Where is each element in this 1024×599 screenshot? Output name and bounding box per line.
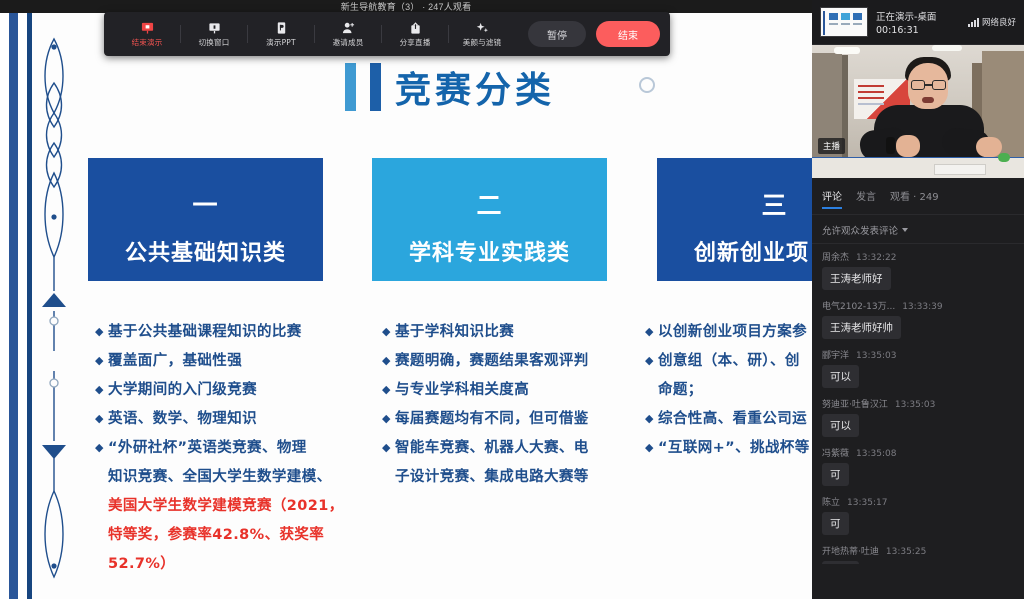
toolbar-label-3: 邀请成员 xyxy=(333,37,364,48)
comment-timestamp: 13:35:03 xyxy=(895,400,935,410)
toolbar-item-invite-member[interactable]: 邀请成员 xyxy=(315,14,381,54)
bullet-text: 知识竞赛、全国大学生数学建模、 xyxy=(108,466,332,488)
bullet-diamond-icon: ◆ xyxy=(95,437,108,459)
category-number-2: 二 xyxy=(372,186,607,222)
toolbar-label-5: 美颜与滤镜 xyxy=(463,37,502,48)
bullet-item: ◆与专业学科相关度高 xyxy=(382,379,632,401)
bullet-diamond-icon: ◆ xyxy=(645,321,658,343)
video-person-watch xyxy=(886,137,895,154)
toolbar-item-stop-presentation[interactable]: 结束演示 xyxy=(114,14,180,54)
comment-meta: 冯紫薇13:35:08 xyxy=(822,446,1014,459)
bullet-text: 以创新创业项目方案参 xyxy=(658,321,807,343)
comment-permission-dropdown[interactable]: 允许观众发表评论 xyxy=(812,215,1024,243)
bullet-text: 智能车竞赛、机器人大赛、电 xyxy=(395,437,589,459)
comment-meta: 陈立13:35:17 xyxy=(822,495,1014,508)
thumb-row-1 xyxy=(829,23,838,25)
comment-bubble: 可以 xyxy=(822,365,859,388)
toolbar-label-0: 结束演示 xyxy=(132,37,163,48)
comment-timestamp: 13:35:08 xyxy=(856,449,896,459)
bullet-text: 赛题明确，赛题结果客观评判 xyxy=(395,350,589,372)
bullet-text: 52.7%） xyxy=(108,553,175,575)
thumb-card-1 xyxy=(829,13,838,20)
network-status: 网络良好 xyxy=(968,16,1016,28)
switch-window-icon xyxy=(208,21,221,35)
bullet-diamond-icon: ◆ xyxy=(645,408,658,430)
bullet-diamond-icon: ◆ xyxy=(95,408,108,430)
bullet-text: “外研社杯”英语类竞赛、物理 xyxy=(108,437,307,459)
comment-timestamp: 13:35:03 xyxy=(856,351,896,361)
video-desk xyxy=(812,158,1024,178)
bullet-text: 基于公共基础课程知识的比赛 xyxy=(108,321,302,343)
comment-bubble: 可 xyxy=(822,512,849,535)
comment-meta: 电气2102-13万...13:33:39 xyxy=(822,299,1014,312)
category-number-3: 三 xyxy=(657,186,812,222)
comment-timestamp: 13:35:25 xyxy=(886,547,926,557)
bullet-item: ◆英语、数学、物理知识 xyxy=(95,408,345,430)
comment-item: 电气2102-13万...13:33:39王涛老师好帅 xyxy=(822,299,1014,339)
presenter-toolbar: 结束演示 切换窗口 演示PPT xyxy=(104,12,670,56)
category-name-1: 公共基础知识类 xyxy=(88,235,323,267)
beauty-filter-icon xyxy=(476,21,489,35)
bullet-item: ◆52.7%） xyxy=(95,553,345,575)
network-label: 网络良好 xyxy=(982,16,1016,28)
bullet-column-2: ◆基于学科知识比赛◆赛题明确，赛题结果客观评判◆与专业学科相关度高◆每届赛题均有… xyxy=(382,321,632,495)
thumb-row-3 xyxy=(853,23,862,25)
comment-bubble: 可 xyxy=(822,463,849,486)
comment-item: 陈立13:35:17可 xyxy=(822,495,1014,535)
app-window: 新生导航教育（3） · 247人观看 xyxy=(0,0,1024,599)
comment-author: 冯紫薇 xyxy=(822,446,849,459)
toolbar-item-switch-window[interactable]: 切换窗口 xyxy=(181,14,247,54)
video-mouse xyxy=(998,153,1010,162)
invite-member-icon xyxy=(342,21,355,35)
right-panel: 正在演示-桌面 00:16:31 网络良好 xyxy=(812,0,1024,599)
bullet-item: ◆赛题明确，赛题结果客观评判 xyxy=(382,350,632,372)
tab-speak[interactable]: 发言 xyxy=(856,188,876,209)
category-number-1: 一 xyxy=(88,186,323,222)
share-info: 正在演示-桌面 00:16:31 xyxy=(876,9,960,36)
glasses-icon xyxy=(911,80,946,90)
comment-timestamp: 13:32:22 xyxy=(856,253,896,263)
comment-bubble: 王涛老师好帅 xyxy=(822,316,901,339)
toolbar-label-1: 切换窗口 xyxy=(199,37,230,48)
tab-comments[interactable]: 评论 xyxy=(822,188,842,209)
bullet-item: ◆覆盖面广，基础性强 xyxy=(95,350,345,372)
bullet-item: ◆每届赛题均有不同，但可借鉴 xyxy=(382,408,632,430)
comment-bubble: 王涛老师好 xyxy=(822,267,891,290)
category-name-3: 创新创业项目类 xyxy=(657,235,812,267)
bullet-text: 覆盖面广，基础性强 xyxy=(108,350,242,372)
bullet-item: ◆基于学科知识比赛 xyxy=(382,321,632,343)
toolbar-item-beauty-filter[interactable]: 美颜与滤镜 xyxy=(449,14,515,54)
signal-bars-icon xyxy=(968,18,979,27)
bullet-text: “互联网+”、挑战杯等 xyxy=(658,437,810,459)
category-card-3: 三 创新创业项目类 xyxy=(657,158,812,281)
bullet-text: 英语、数学、物理知识 xyxy=(108,408,257,430)
host-video-tile[interactable]: 主播 xyxy=(812,45,1024,178)
bullet-text: 特等奖，参赛率42.8%、获奖率 xyxy=(108,524,324,546)
chevron-down-icon xyxy=(902,228,908,232)
comment-item: 开地热蒂·吐迪13:35:25可以 xyxy=(822,544,1014,564)
video-keyboard xyxy=(934,164,986,175)
comment-author: 电气2102-13万... xyxy=(822,299,895,312)
bullet-text: 美国大学生数学建模竞赛（2021， xyxy=(108,495,344,517)
toolbar-item-present-ppt[interactable]: 演示PPT xyxy=(248,14,314,54)
shared-screen-slide: 竞赛分类 一 公共基础知识类 二 学科专业实践类 三 创新创业项目类 ◆基于公共… xyxy=(0,13,812,599)
comment-meta: 周余杰13:32:22 xyxy=(822,250,1014,263)
thumb-card-2 xyxy=(841,13,850,20)
panel-tabs: 评论 发言 观看 · 249 xyxy=(812,178,1024,208)
bullet-text: 基于学科知识比赛 xyxy=(395,321,514,343)
bullet-item: ◆“外研社杯”英语类竞赛、物理 xyxy=(95,437,345,459)
bullet-text: 创意组（本、研）、创 xyxy=(658,350,800,372)
tab-viewers[interactable]: 观看 · 249 xyxy=(890,188,939,209)
bullet-item: ◆基于公共基础课程知识的比赛 xyxy=(95,321,345,343)
bullet-text: 子设计竞赛、集成电路大赛等 xyxy=(395,466,589,488)
bullet-diamond-icon: ◆ xyxy=(382,379,395,401)
share-status-bar: 正在演示-桌面 00:16:31 网络良好 xyxy=(812,0,1024,45)
bullet-diamond-icon: ◆ xyxy=(95,321,108,343)
comment-author: 开地热蒂·吐迪 xyxy=(822,544,879,557)
bullet-diamond-icon: ◆ xyxy=(645,437,658,459)
bullet-text: 大学期间的入门级竞赛 xyxy=(108,379,257,401)
comment-item: 冯紫薇13:35:08可 xyxy=(822,446,1014,486)
comment-author: 郦宇洋 xyxy=(822,348,849,361)
video-person-mouth xyxy=(922,97,934,103)
end-button[interactable]: 结束 xyxy=(596,21,660,47)
video-person-hand-left xyxy=(896,135,920,157)
comment-list-bottom-fade xyxy=(812,589,1024,599)
bullet-item: ◆命题； xyxy=(645,379,812,401)
comment-author: 周余杰 xyxy=(822,250,849,263)
thumb-card-3 xyxy=(853,13,862,20)
comment-list[interactable]: 周余杰13:32:22王涛老师好电气2102-13万...13:33:39王涛老… xyxy=(812,244,1024,564)
bullet-diamond-icon: ◆ xyxy=(382,321,395,343)
bullet-item: ◆智能车竞赛、机器人大赛、电 xyxy=(382,437,632,459)
comment-item: 周余杰13:32:22王涛老师好 xyxy=(822,250,1014,290)
bullet-text: 每届赛题均有不同，但可借鉴 xyxy=(395,408,589,430)
category-card-2: 二 学科专业实践类 xyxy=(372,158,607,281)
bullet-diamond-icon: ◆ xyxy=(645,350,658,372)
bullet-diamond-icon: ◆ xyxy=(382,408,395,430)
comment-meta: 开地热蒂·吐迪13:35:25 xyxy=(822,544,1014,557)
toolbar-item-share-live[interactable]: 分享直播 xyxy=(382,14,448,54)
comment-author: 陈立 xyxy=(822,495,840,508)
bullet-item: ◆以创新创业项目方案参 xyxy=(645,321,812,343)
comment-meta: 郦宇洋13:35:03 xyxy=(822,348,1014,361)
category-name-2: 学科专业实践类 xyxy=(372,235,607,267)
bullet-item: ◆子设计竞赛、集成电路大赛等 xyxy=(382,466,632,488)
comment-permission-label: 允许观众发表评论 xyxy=(822,223,898,237)
comment-bubble: 可以 xyxy=(822,414,859,437)
comment-timestamp: 13:33:39 xyxy=(902,302,942,312)
bullet-text: 综合性高、看重公司运 xyxy=(658,408,807,430)
toolbar-label-4: 分享直播 xyxy=(400,37,431,48)
comment-item: 努迪亚·吐鲁汉江13:35:03可以 xyxy=(822,397,1014,437)
bullet-diamond-icon: ◆ xyxy=(382,350,395,372)
share-timer: 00:16:31 xyxy=(876,25,960,36)
bullet-item: ◆综合性高、看重公司运 xyxy=(645,408,812,430)
category-card-1: 一 公共基础知识类 xyxy=(88,158,323,281)
bullet-item: ◆大学期间的入门级竞赛 xyxy=(95,379,345,401)
comment-item: 郦宇洋13:35:03可以 xyxy=(822,348,1014,388)
bullet-item: ◆知识竞赛、全国大学生数学建模、 xyxy=(95,466,345,488)
bullet-text: 命题； xyxy=(658,379,703,401)
bullet-item: ◆“互联网+”、挑战杯等 xyxy=(645,437,812,459)
stop-presentation-icon xyxy=(141,21,154,35)
comment-timestamp: 13:35:17 xyxy=(847,498,887,508)
share-live-icon xyxy=(409,21,422,35)
bullet-column-3: ◆以创新创业项目方案参◆创意组（本、研）、创◆命题；◆综合性高、看重公司运◆“互… xyxy=(645,321,812,466)
thumb-row-2 xyxy=(841,23,850,25)
share-status-text: 正在演示-桌面 xyxy=(876,9,960,23)
comment-bubble: 可以 xyxy=(822,561,859,564)
comment-meta: 努迪亚·吐鲁汉江13:35:03 xyxy=(822,397,1014,410)
bullet-item: ◆美国大学生数学建模竞赛（2021， xyxy=(95,495,345,517)
pause-button[interactable]: 暂停 xyxy=(528,21,586,47)
video-ceiling-lamp-right xyxy=(932,45,962,51)
bullet-diamond-icon: ◆ xyxy=(95,379,108,401)
bullet-diamond-icon: ◆ xyxy=(382,437,395,459)
video-ceiling-lamp-left xyxy=(834,47,860,54)
comment-author: 努迪亚·吐鲁汉江 xyxy=(822,397,888,410)
bullet-diamond-icon: ◆ xyxy=(95,350,108,372)
host-badge: 主播 xyxy=(818,138,845,154)
toolbar-label-2: 演示PPT xyxy=(266,37,296,48)
bullet-column-1: ◆基于公共基础课程知识的比赛◆覆盖面广，基础性强◆大学期间的入门级竞赛◆英语、数… xyxy=(95,321,345,582)
bullet-item: ◆创意组（本、研）、创 xyxy=(645,350,812,372)
bullet-text: 与专业学科相关度高 xyxy=(395,379,529,401)
present-ppt-icon xyxy=(275,21,288,35)
bullet-item: ◆特等奖，参赛率42.8%、获奖率 xyxy=(95,524,345,546)
thumb-edge xyxy=(823,11,825,35)
share-preview-thumbnail[interactable] xyxy=(820,7,868,37)
